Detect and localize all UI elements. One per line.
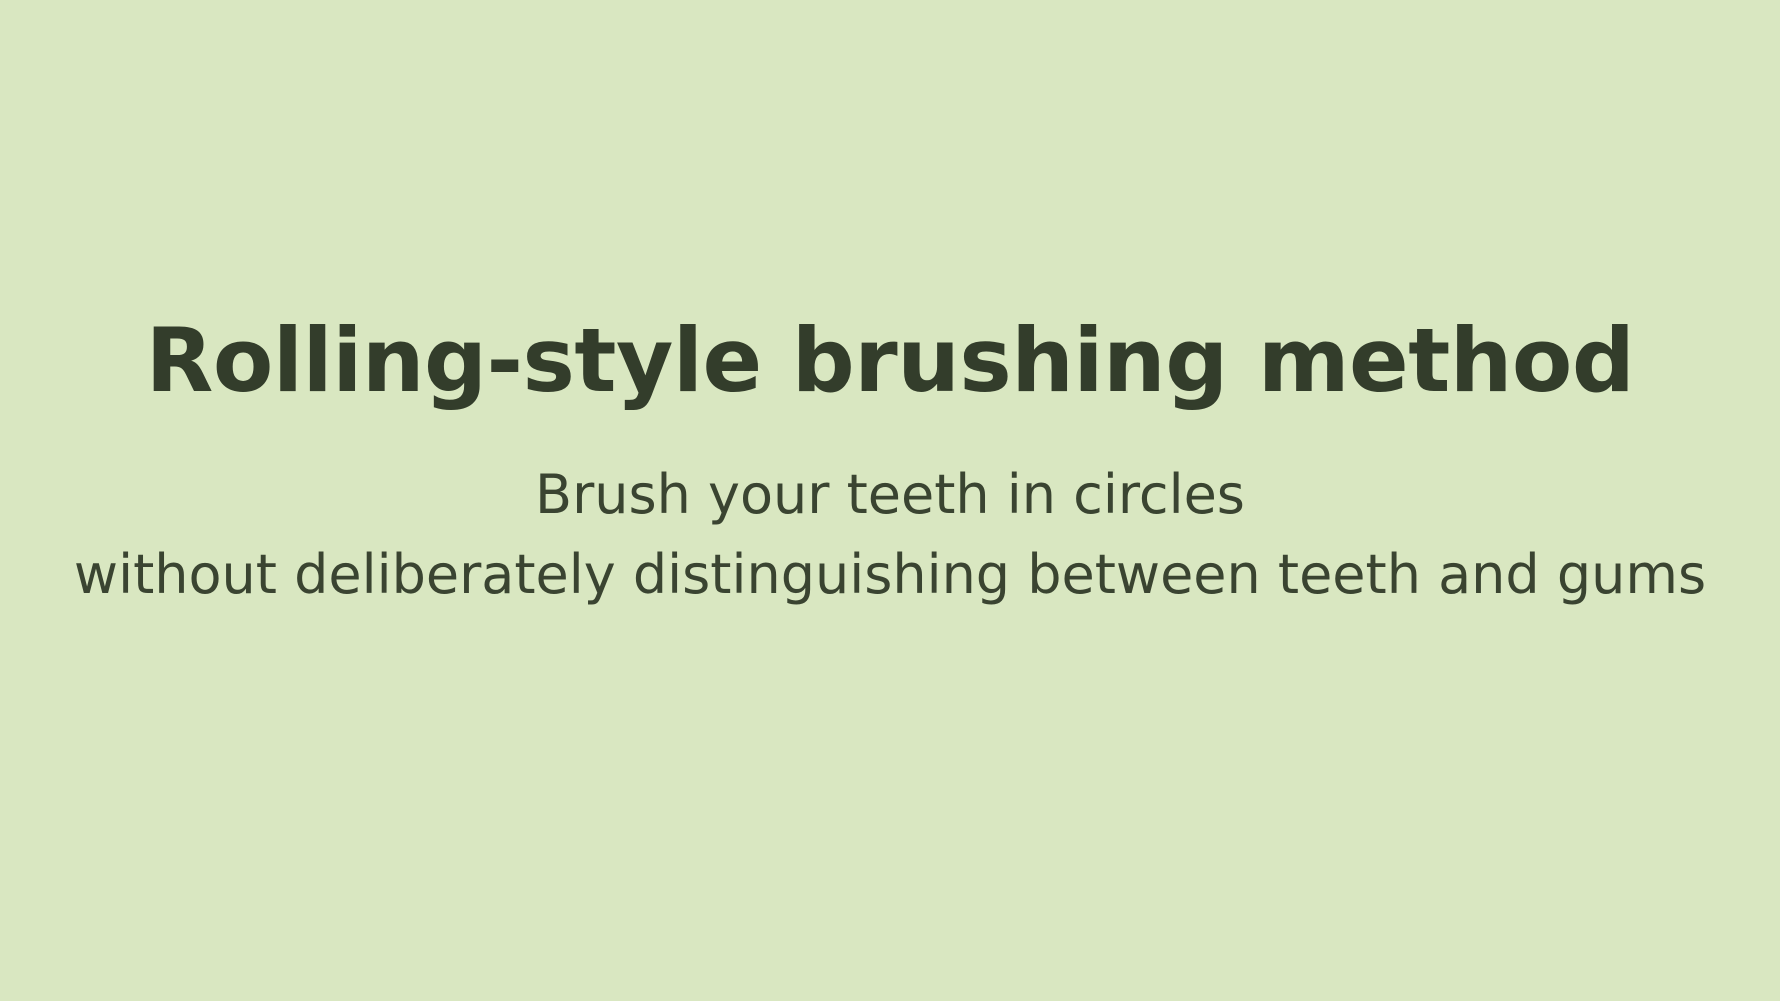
body-line-2: without deliberately distinguishing betw… [0,535,1780,615]
page-title: Rolling-style brushing method [0,59,1780,405]
slide-body-text: Brush your teeth in circles without deli… [0,455,1780,615]
body-line-1: Brush your teeth in circles [0,455,1780,535]
slide-canvas: Rolling-style brushing method Brush your… [0,0,1780,1001]
